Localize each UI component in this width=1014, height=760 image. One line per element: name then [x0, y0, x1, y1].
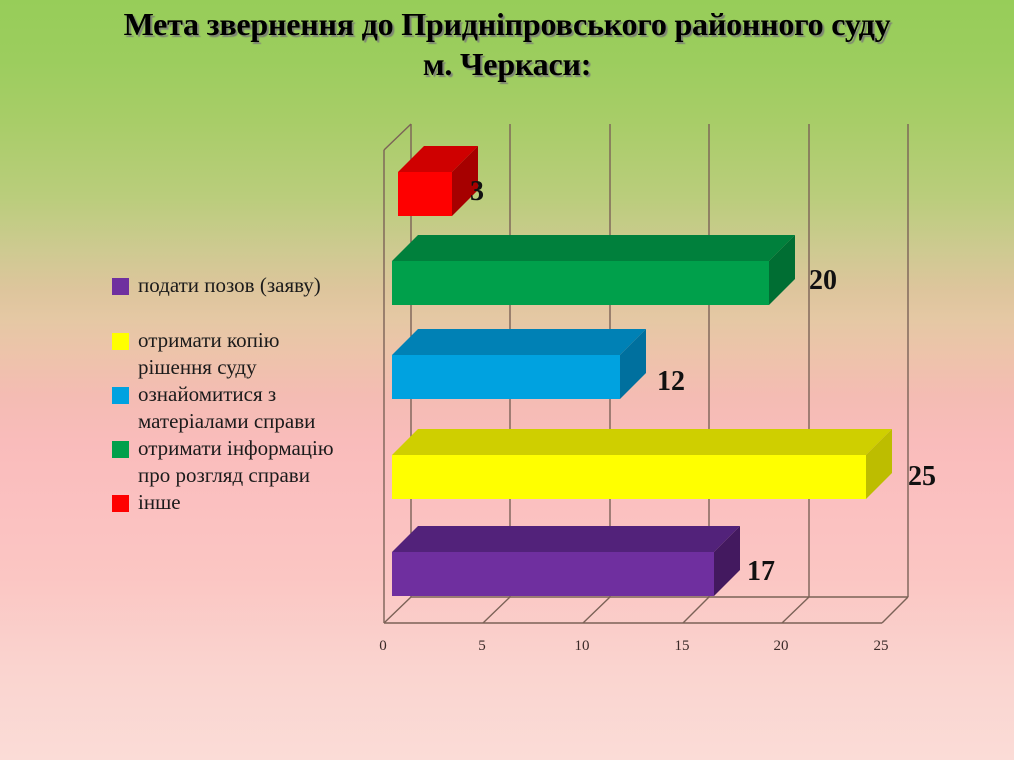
depth-connector-tick-15	[683, 597, 709, 623]
bar-yellow-side	[866, 429, 892, 499]
legend-item-inshe[interactable]: інше	[112, 489, 387, 516]
bar-value-informatsiyu: 20	[809, 265, 837, 297]
chart-gridlines	[384, 124, 908, 623]
page-title-line-2: м. Черкаси:	[60, 44, 954, 84]
legend-swatch-green-icon	[112, 441, 129, 458]
axis-tick-10: 10	[575, 638, 590, 655]
bar-value-oznayomytysya: 12	[657, 366, 685, 398]
axis-tick-5: 5	[478, 638, 486, 655]
legend-swatch-purple-icon	[112, 278, 129, 295]
legend-label-inshe: інше	[138, 489, 181, 516]
legend-swatch-blue-icon	[112, 387, 129, 404]
legend-item-podaty-pozov[interactable]: подати позов (заяву)	[112, 272, 387, 299]
legend-label-otrymaty-kopiyu: отримати копію рішення суду	[138, 327, 279, 381]
axis-tick-25: 25	[874, 638, 889, 655]
axis-tick-0: 0	[379, 638, 387, 655]
depth-connector-tick-0	[384, 597, 411, 623]
page-title: Мета звернення до Придніпровського район…	[60, 4, 954, 84]
bar-oznayomytysya	[392, 329, 646, 399]
bar-inshe	[398, 146, 478, 216]
legend-swatch-red-icon	[112, 495, 129, 512]
depth-connector-tick-5	[483, 597, 510, 623]
bar-purple-side	[714, 526, 740, 596]
bar-green-side	[769, 235, 795, 305]
bar-green-top	[392, 235, 795, 261]
bar-purple-front	[392, 552, 714, 596]
legend-item-otrymaty-informatsiyu[interactable]: отримати інформацію про розгляд справи	[112, 435, 387, 489]
bar-value-pozov: 17	[747, 556, 775, 588]
presentation-slide: Мета звернення до Придніпровського район…	[0, 0, 1014, 760]
bar-blue-side	[620, 329, 646, 399]
legend-spacer	[112, 299, 387, 327]
bar-blue-front	[392, 355, 620, 399]
bar-yellow-front	[392, 455, 866, 499]
depth-connector-tick-10	[583, 597, 610, 623]
legend-swatch-yellow-icon	[112, 333, 129, 350]
page-title-line-1: Мета звернення до Придніпровського район…	[60, 4, 954, 44]
bar-otrymaty-kopiyu	[392, 429, 892, 499]
legend-label-oznayomytysya: ознайомитися з матеріалами справи	[138, 381, 315, 435]
bar-blue-top	[392, 329, 646, 355]
bar-purple-top	[392, 526, 740, 552]
depth-connector-top-left	[384, 124, 411, 150]
bar-green-front	[392, 261, 769, 305]
axis-tick-20: 20	[774, 638, 789, 655]
legend-label-podaty-pozov: подати позов (заяву)	[138, 272, 321, 299]
depth-connector-tick-20	[782, 597, 809, 623]
bar-podaty-pozov	[392, 526, 740, 596]
depth-connector-tick-25	[882, 597, 908, 623]
bar-inshe-front	[398, 172, 452, 216]
bar-yellow-top	[392, 429, 892, 455]
axis-tick-15: 15	[675, 638, 690, 655]
bar-value-inshe: 3	[470, 176, 484, 208]
chart-legend: подати позов (заяву) отримати копію ріше…	[112, 272, 387, 516]
legend-item-oznayomytysya[interactable]: ознайомитися з матеріалами справи	[112, 381, 387, 435]
bar-value-kopiyu: 25	[908, 461, 936, 493]
bar-inshe-top	[398, 146, 478, 172]
legend-item-otrymaty-kopiyu[interactable]: отримати копію рішення суду	[112, 327, 387, 381]
bar-otrymaty-informatsiyu	[392, 235, 795, 305]
legend-label-otrymaty-informatsiyu: отримати інформацію про розгляд справи	[138, 435, 334, 489]
